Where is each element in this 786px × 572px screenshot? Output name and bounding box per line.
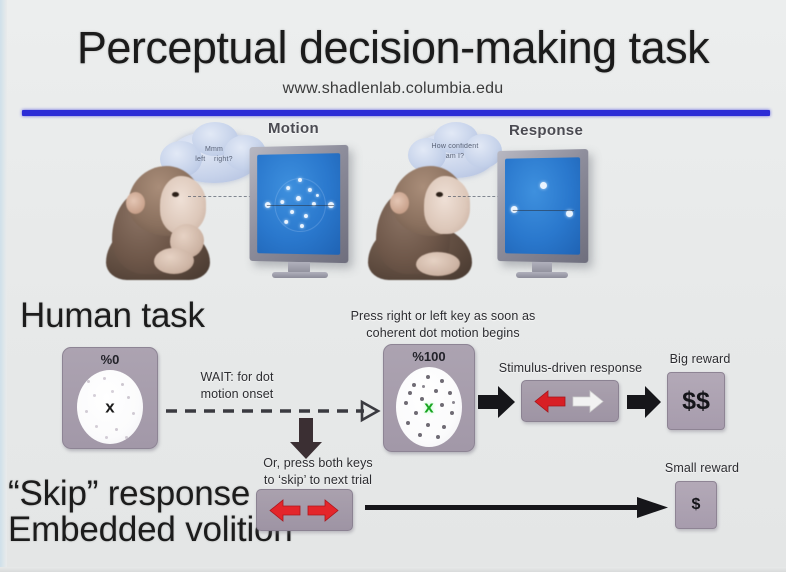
screen-response [505, 157, 580, 254]
small-reward-box[interactable]: $ [675, 481, 717, 529]
arrow-to-small-reward [365, 496, 670, 520]
slide-canvas: Perceptual decision-making task www.shad… [0, 0, 786, 572]
section-heading-human-task: Human task [20, 296, 205, 336]
page-title: Perceptual decision-making task [0, 22, 786, 74]
caption-press-key: Press right or left key as soon as coher… [333, 308, 553, 343]
monkey-observer-motion [110, 160, 235, 278]
panel-label-response: Response [509, 122, 583, 139]
fixation-cross-zero: x [105, 399, 114, 416]
slide-bottom-edge [0, 567, 786, 572]
monitor-motion [250, 145, 349, 263]
fixation-cross-full: x [424, 399, 433, 416]
arrow-wait-dashed [166, 398, 384, 424]
monitor-response [497, 149, 588, 263]
caption-skip-trial: Or, press both keys to ‘skip’ to next tr… [238, 455, 398, 490]
caption-skip-line-2: to ‘skip’ to next trial [238, 472, 398, 489]
caption-skip-line-1: Or, press both keys [238, 455, 398, 472]
label-big-reward: Big reward [650, 351, 750, 368]
stimulus-card-full-coherence[interactable]: %100 x [383, 344, 475, 452]
coherence-label-full: %100 [384, 349, 474, 364]
dot-aperture-zero: x [77, 370, 143, 444]
monkey-observer-response [378, 160, 503, 278]
arrow-to-big-reward [627, 385, 662, 419]
arrow-down-to-skip [288, 418, 324, 460]
panel-label-motion: Motion [268, 120, 319, 137]
key-pair-stimulus-response[interactable] [521, 380, 619, 422]
caption-wait-line-1: WAIT: for dot [172, 369, 302, 386]
caption-press-line-2: coherent dot motion begins [333, 325, 553, 342]
key-pair-skip-response[interactable] [256, 489, 353, 531]
label-small-reward: Small reward [648, 460, 756, 477]
source-url: www.shadlenlab.columbia.edu [0, 80, 786, 98]
title-divider-rule [22, 110, 770, 116]
caption-press-line-1: Press right or left key as soon as [333, 308, 553, 325]
left-key-arrow-icon[interactable] [534, 390, 566, 413]
skip-left-key-arrow-icon[interactable] [269, 499, 301, 522]
monitor-response-base [516, 272, 568, 278]
dot-aperture-full: x [396, 367, 462, 447]
skip-right-key-arrow-icon[interactable] [307, 499, 339, 522]
big-reward-box[interactable]: $$ [667, 372, 725, 430]
coherence-label-zero: %0 [63, 352, 157, 367]
stimulus-card-zero-coherence[interactable]: %0 x [62, 347, 158, 449]
caption-stimulus-driven-response: Stimulus-driven response [493, 360, 648, 377]
skip-heading-line-2: Embedded volition [8, 512, 293, 548]
screen-motion [257, 153, 340, 255]
right-key-arrow-icon[interactable] [572, 390, 604, 413]
monitor-motion-base [272, 272, 328, 278]
arrow-to-response-keys [478, 385, 516, 419]
